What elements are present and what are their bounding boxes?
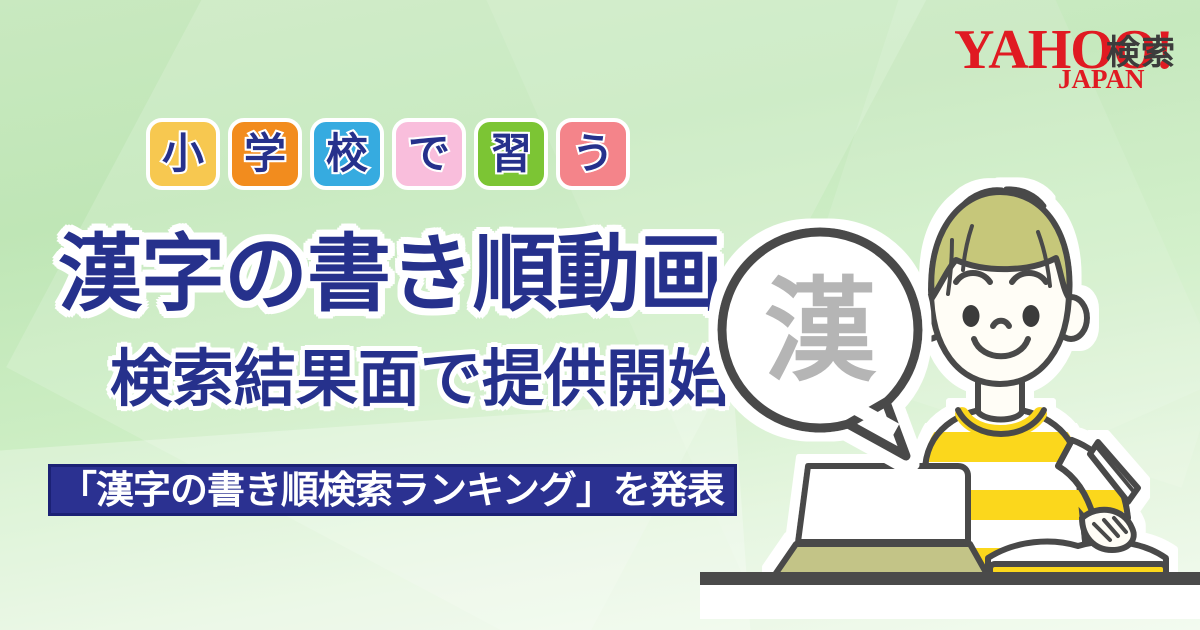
chip-3: で	[392, 118, 466, 190]
yahoo-japan-search-logo: YAHOO! JAPAN 検索	[954, 22, 1174, 96]
chip-label-2: 校	[326, 133, 368, 175]
headline-line-2: 検索結果面で提供開始	[110, 348, 730, 410]
chip-label-0: 小	[162, 133, 204, 175]
chip-label-1: 学	[244, 133, 286, 175]
subheading-banner: 「漢字の書き順検索ランキング」を発表	[48, 464, 737, 516]
chip-row-shogakko-de-narau: 小 学 校 で 習 う	[146, 118, 630, 190]
speech-bubble: 漢	[722, 232, 918, 456]
search-label-kensaku: 検索	[1106, 36, 1176, 70]
illustration-boy-studying: 漢	[700, 140, 1200, 630]
chip-label-3: で	[408, 133, 450, 175]
chip-label-5: う	[572, 133, 614, 175]
promo-banner-canvas: YAHOO! JAPAN 検索 小 学 校 で 習 う 漢字の書き順動画 を 検…	[0, 0, 1200, 630]
chip-0: 小	[146, 118, 220, 190]
headline-main-text: 漢字の書き順動画	[58, 232, 722, 316]
chip-1: 学	[228, 118, 302, 190]
subheading-banner-text: 「漢字の書き順検索ランキング」を発表	[59, 471, 724, 509]
chip-5: う	[556, 118, 630, 190]
chip-label-4: 習	[490, 133, 532, 175]
speech-bubble-kanji: 漢	[764, 267, 877, 397]
chip-2: 校	[310, 118, 384, 190]
chip-4: 習	[474, 118, 548, 190]
headline-line-1: 漢字の書き順動画 を	[58, 232, 780, 316]
desk-surface	[700, 572, 1200, 619]
